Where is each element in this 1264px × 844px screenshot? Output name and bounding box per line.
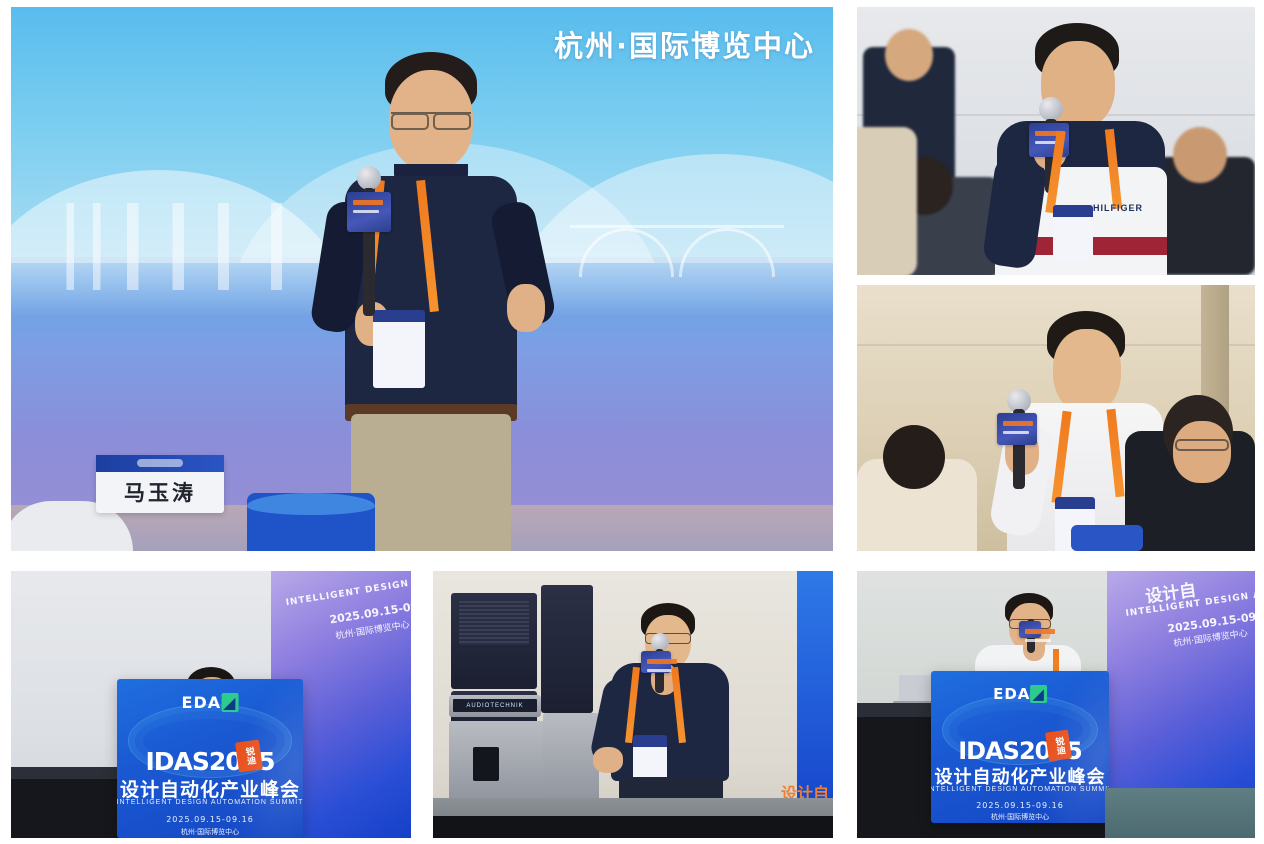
- amplifier-brand-label: AUDIOTECHNIK: [453, 699, 537, 712]
- event-date: 2025.09.15-09.16: [976, 801, 1064, 810]
- photo-audience-qa-white-shirt[interactable]: [857, 285, 1255, 551]
- stage-table-top: [247, 493, 375, 515]
- presenter-badge: [633, 735, 667, 783]
- speaker-nameplate: 马玉涛: [96, 455, 224, 513]
- event-venue: 杭州·国际博览中心: [181, 827, 239, 837]
- eda-logo-text: EDA: [182, 693, 222, 712]
- event-seal-text: 锐迪: [243, 746, 254, 765]
- subject-head: [1053, 329, 1121, 413]
- foreground-attendee-glasses-icon: [1175, 439, 1229, 451]
- event-name-en-text: IDAS2025: [146, 747, 275, 776]
- background-attendee-3-head: [1173, 127, 1227, 183]
- eda-logo: EDA◢: [993, 685, 1047, 703]
- eda-logo: EDA◢: [182, 693, 239, 712]
- microphone-flag-logo: [997, 413, 1037, 445]
- microphone-head-icon: [1039, 97, 1063, 121]
- stage-table: [247, 493, 375, 551]
- photo-podium-speaker-right[interactable]: 设计自 INTELLIGENT DESIGN AU 2025.09.15-09.…: [857, 571, 1255, 838]
- eda-logo-text: EDA: [993, 685, 1030, 703]
- speaker-hand-right: [507, 284, 545, 332]
- photo-main-stage-speaker[interactable]: 杭州·国际博览中心 马玉涛: [11, 7, 833, 551]
- event-subtitle-en: INTELLIGENT DESIGN AUTOMATION SUMMIT: [931, 786, 1109, 793]
- microphone-flag-logo: [1019, 621, 1041, 638]
- nameplate-header-band: [96, 455, 224, 472]
- speaker-stand-base: [543, 713, 599, 805]
- photo-audience-qa-navy-white[interactable]: HILFIGER: [857, 7, 1255, 275]
- speaker-trousers: [351, 414, 511, 551]
- speaker-grille-top: [459, 601, 529, 645]
- microphone-flag-logo: [641, 651, 671, 673]
- event-name-en-text: IDAS2025: [958, 737, 1082, 765]
- background-attendee-1-head: [885, 29, 933, 81]
- amplifier-vent: [473, 747, 499, 781]
- speaker-figure: [311, 52, 551, 551]
- speaker-glasses-icon: [391, 112, 471, 126]
- event-seal: 锐迪: [235, 739, 263, 772]
- event-venue-text: 杭州·国际博览中心: [181, 828, 239, 836]
- photo-gallery: 杭州·国际博览中心 马玉涛: [0, 0, 1264, 844]
- eda-logo-mark: ◢: [1030, 685, 1047, 703]
- event-date-text: 2025.09.15-09.16: [166, 815, 254, 824]
- event-subtitle-en-text: INTELLIGENT DESIGN AUTOMATION SUMMIT: [117, 799, 303, 806]
- event-name-cn-text: 设计自动化产业峰会: [935, 767, 1106, 788]
- microphone-head-icon: [357, 166, 381, 190]
- event-name-cn: 设计自动化产业峰会: [120, 775, 300, 802]
- event-seal: 锐迪: [1045, 730, 1072, 762]
- event-date-text: 2025.09.15-09.16: [976, 801, 1064, 810]
- podium-panel: EDA◢ IDAS2025 锐迪 设计自动化产业峰会 INTELLIGENT D…: [931, 671, 1109, 823]
- speaker-cabinet-right: [541, 585, 593, 713]
- event-name-en: IDAS2025: [146, 747, 275, 776]
- event-name-en: IDAS2025: [958, 737, 1082, 765]
- event-name-cn-text: 设计自动化产业峰会: [120, 779, 300, 801]
- table-microphone: [1071, 525, 1143, 551]
- background-chair: [857, 127, 917, 275]
- event-venue: 杭州·国际博览中心: [991, 812, 1049, 822]
- eda-logo-mark: ◢: [221, 693, 238, 712]
- event-venue-text: 杭州·国际博览中心: [991, 813, 1049, 821]
- amplifier-brand-text: AUDIOTECHNIK: [466, 703, 523, 709]
- seated-attendee-left-head: [883, 425, 945, 489]
- nameplate-name-text: 马玉涛: [124, 477, 196, 507]
- speaker-badge: [373, 310, 425, 388]
- subject-badge: [1053, 205, 1093, 261]
- event-seal-text: 锐迪: [1053, 736, 1064, 755]
- floor-carpet-right: [1105, 788, 1255, 838]
- photo-standing-presenter[interactable]: AUDIOTECHNIK 设计自: [433, 571, 833, 838]
- floor-shadow: [433, 816, 833, 838]
- photo-podium-speaker-left[interactable]: INTELLIGENT DESIGN AU 2025.09.15-09.16 杭…: [11, 571, 411, 838]
- backdrop-venue-text: 杭州·国际博览中心: [554, 23, 815, 65]
- microphone-flag-logo: [347, 192, 391, 232]
- foreground-attendee-face: [1173, 421, 1231, 483]
- presenter-hand-left: [593, 747, 623, 773]
- event-subtitle-en: INTELLIGENT DESIGN AUTOMATION SUMMIT: [117, 799, 303, 806]
- backdrop-bridge-icon: [570, 225, 784, 274]
- event-subtitle-en-text: INTELLIGENT DESIGN AUTOMATION SUMMIT: [931, 786, 1109, 793]
- shirt-brand-text: HILFIGER: [1093, 203, 1143, 213]
- event-date: 2025.09.15-09.16: [166, 815, 254, 824]
- podium-panel: EDA◢ IDAS2025 锐迪 设计自动化产业峰会 INTELLIGENT D…: [117, 679, 303, 838]
